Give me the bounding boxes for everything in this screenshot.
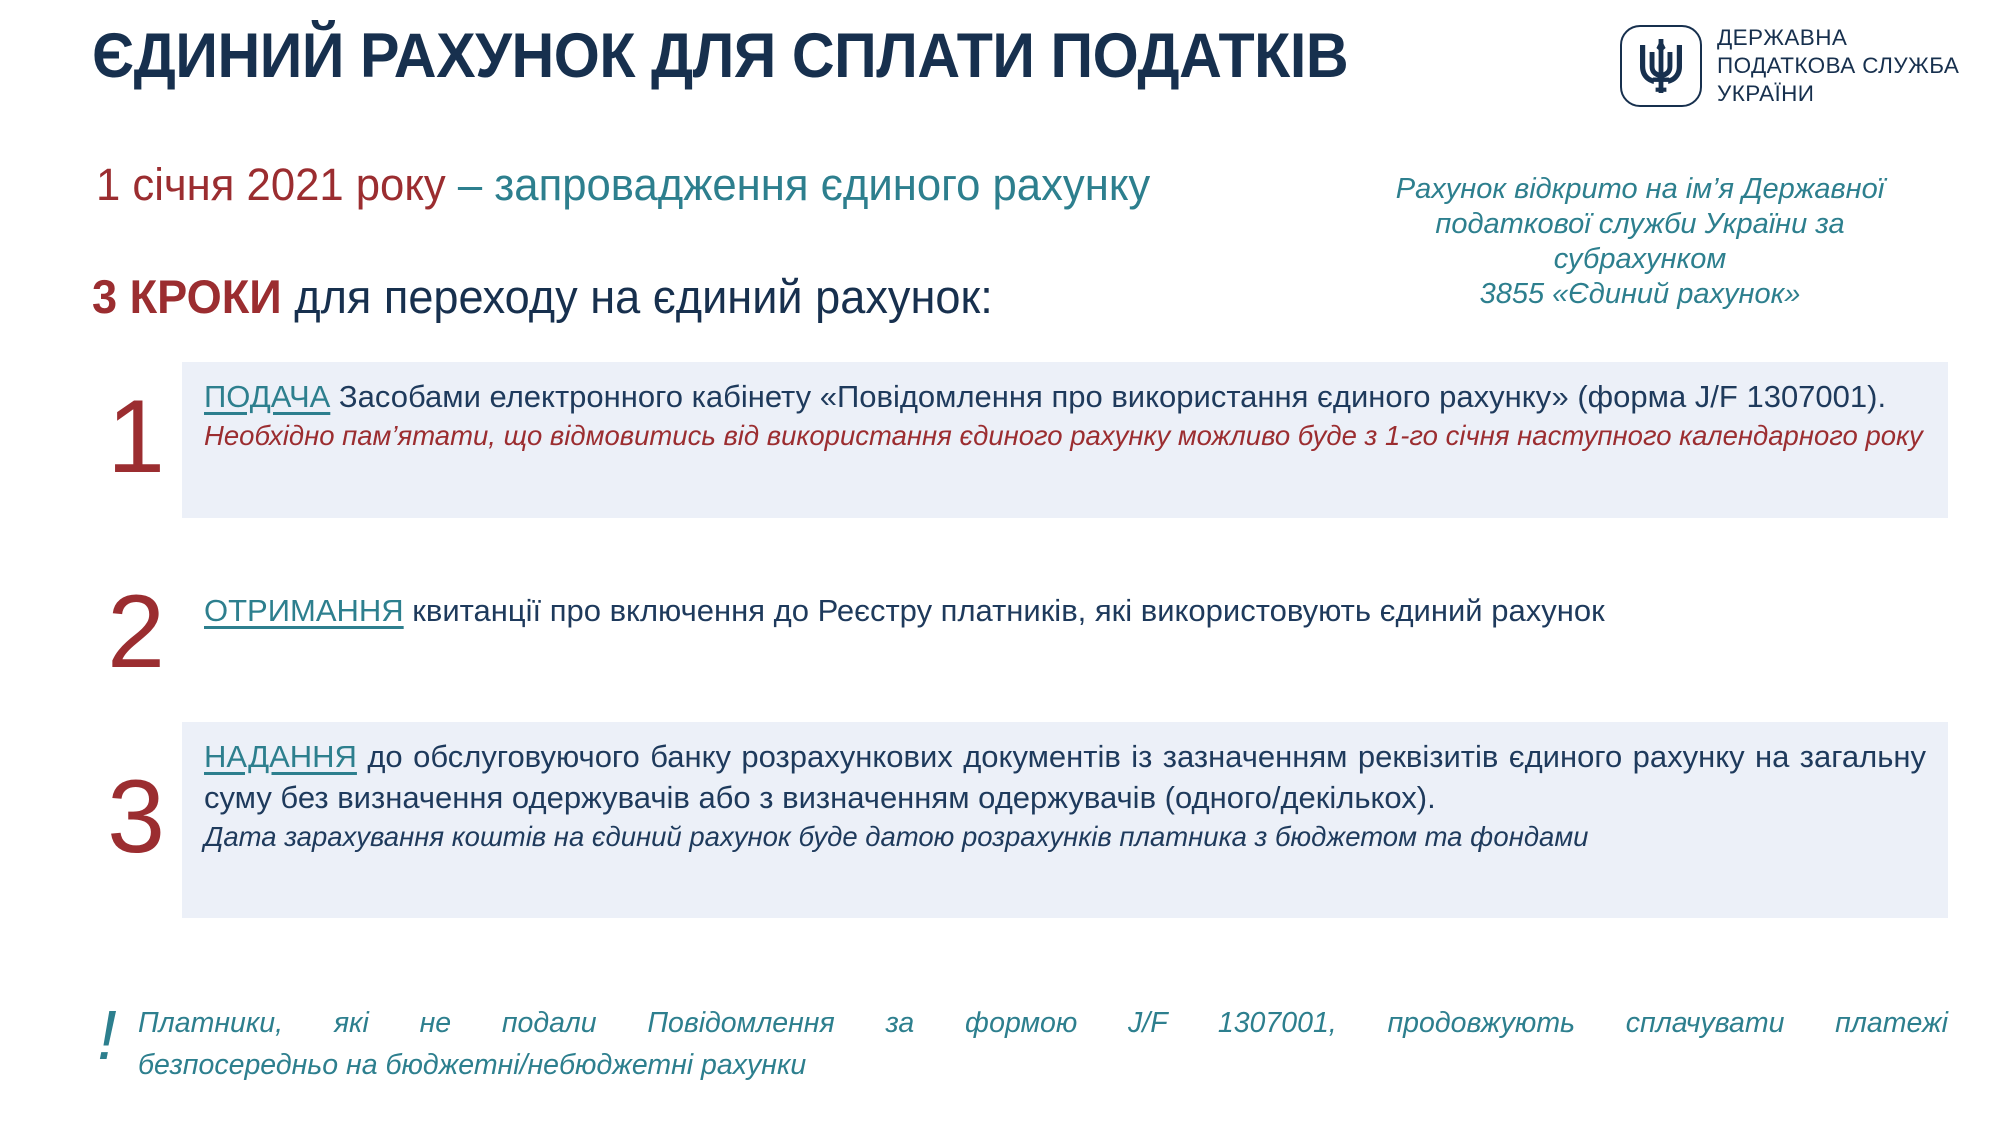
- subtitle: 1 січня 2021 року – запровадження єдиног…: [96, 158, 1150, 212]
- exclamation-icon: !: [92, 1002, 122, 1068]
- steps-heading-emphasis: 3 КРОКИ: [92, 270, 282, 323]
- step-paragraph-1: ПОДАЧА Засобами електронного кабінету «П…: [204, 376, 1926, 417]
- step-item-2: 2 ОТРИМАННЯ квитанції про включення до Р…: [90, 580, 1948, 690]
- step-body-2: ОТРИМАННЯ квитанції про включення до Реє…: [182, 580, 1948, 690]
- ukraine-trident-icon: [1620, 25, 1702, 107]
- account-note-line-4: 3855 «Єдиний рахунок»: [1330, 277, 1950, 312]
- step-text-3: до обслуговуючого банку розрахункових до…: [204, 739, 1926, 815]
- step-number-1: 1: [90, 362, 182, 518]
- subtitle-rest: – запровадження єдиного рахунку: [446, 159, 1151, 210]
- logo-line-1: ДЕРЖАВНА: [1717, 24, 1959, 51]
- step-paragraph-3: НАДАННЯ до обслуговуючого банку розрахун…: [204, 736, 1926, 818]
- page-title: ЄДИНИЙ РАХУНОК ДЛЯ СПЛАТИ ПОДАТКІВ: [92, 20, 1427, 92]
- steps-heading: 3 КРОКИ для переходу на єдиний рахунок:: [92, 268, 993, 326]
- step-text-1: Засобами електронного кабінету «Повідомл…: [330, 379, 1886, 414]
- step-keyword-3: НАДАННЯ: [204, 739, 357, 774]
- step-item-3: 3 НАДАННЯ до обслуговуючого банку розрах…: [90, 722, 1948, 918]
- subtitle-date: 1 січня 2021 року: [96, 159, 446, 210]
- logo-line-3: УКРАЇНИ: [1717, 80, 1959, 107]
- step-item-1: 1 ПОДАЧА Засобами електронного кабінету …: [90, 362, 1948, 518]
- step-number-3: 3: [90, 722, 182, 918]
- step-text-2: квитанції про включення до Реєстру платн…: [404, 593, 1605, 628]
- organization-logo: ДЕРЖАВНА ПОДАТКОВА СЛУЖБА УКРАЇНИ: [1620, 24, 1959, 107]
- footer-callout: ! Платники, які не подали Повідомлення з…: [92, 1002, 1948, 1086]
- account-note-line-1: Рахунок відкрито на ім’я Державної: [1330, 172, 1950, 207]
- logo-wordmark: ДЕРЖАВНА ПОДАТКОВА СЛУЖБА УКРАЇНИ: [1717, 24, 1959, 107]
- step-body-1: ПОДАЧА Засобами електронного кабінету «П…: [182, 362, 1948, 518]
- slide-header: ЄДИНИЙ РАХУНОК ДЛЯ СПЛАТИ ПОДАТКІВ: [0, 0, 2000, 140]
- account-note-line-3: субрахунком: [1330, 242, 1950, 277]
- step-paragraph-2: ОТРИМАННЯ квитанції про включення до Реє…: [204, 590, 1926, 631]
- step-keyword-1: ПОДАЧА: [204, 379, 330, 414]
- account-note: Рахунок відкрито на ім’я Державної подат…: [1330, 172, 1950, 312]
- footer-line-1: Платники, які не подали Повідомлення за …: [138, 1002, 1948, 1044]
- footer-line-2: безпосередньо на бюджетні/небюджетні рах…: [138, 1044, 1948, 1086]
- step-body-3: НАДАННЯ до обслуговуючого банку розрахун…: [182, 722, 1948, 918]
- account-note-line-2: податкової служби України за: [1330, 207, 1950, 242]
- step-keyword-2: ОТРИМАННЯ: [204, 593, 404, 628]
- step-number-2: 2: [90, 580, 182, 690]
- step-note-3: Дата зарахування коштів на єдиний рахуно…: [204, 818, 1926, 856]
- logo-line-2: ПОДАТКОВА СЛУЖБА: [1717, 52, 1959, 79]
- steps-heading-rest: для переходу на єдиний рахунок:: [282, 270, 993, 323]
- slide-canvas: ЄДИНИЙ РАХУНОК ДЛЯ СПЛАТИ ПОДАТКІВ: [0, 0, 2000, 1125]
- footer-text: Платники, які не подали Повідомлення за …: [138, 1002, 1948, 1086]
- step-note-1: Необхідно пам’ятати, що відмовитись від …: [204, 417, 1926, 455]
